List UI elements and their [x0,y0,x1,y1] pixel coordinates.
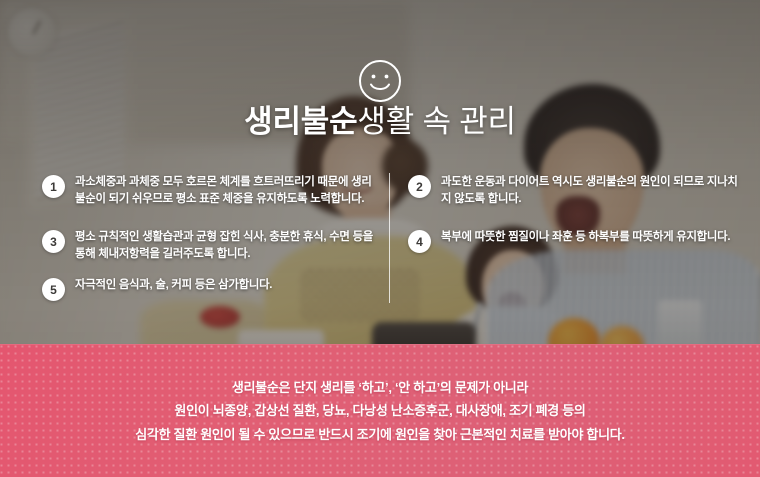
tip-number-badge: 4 [408,230,431,253]
list-item: 4 복부에 따뜻한 찜질이나 좌훈 등 하복부를 따뜻하게 유지합니다. [408,229,742,253]
tip-text: 자극적인 음식과, 술, 커피 등은 삼가합니다. [75,277,272,294]
footer-line-2: 원인이 뇌종양, 갑상선 질환, 당뇨, 다낭성 난소증후군, 대사장애, 조기… [0,399,760,422]
tip-text: 과소체중과 과체중 모두 호르몬 체계를 흐트러뜨리기 때문에 생리불순이 되기… [75,174,380,209]
tip-number-badge: 2 [408,175,431,198]
list-item: 5 자극적인 음식과, 술, 커피 등은 삼가합니다. [42,277,380,301]
tip-text: 복부에 따뜻한 찜질이나 좌훈 등 하복부를 따뜻하게 유지합니다. [441,229,730,246]
infographic-root: 생리불순생활 속 관리 1 과소체중과 과체중 모두 호르몬 체계를 흐트러뜨리… [0,0,760,477]
tip-text: 과도한 운동과 다이어트 역시도 생리불순의 원인이 되므로 지나치지 않도록 … [441,174,742,209]
footer-banner: 생리불순은 단지 생리를 ‘하고’, ‘안 하고’의 문제가 아니라 원인이 뇌… [0,344,760,477]
tip-number-badge: 5 [42,278,65,301]
footer-banner-text: 생리불순은 단지 생리를 ‘하고’, ‘안 하고’의 문제가 아니라 원인이 뇌… [0,376,760,446]
footer-line-3: 심각한 질환 원인이 될 수 있으므로 반드시 조기에 원인을 찾아 근본적인 … [0,423,760,446]
list-item: 1 과소체중과 과체중 모두 호르몬 체계를 흐트러뜨리기 때문에 생리불순이 … [42,174,380,209]
list-item: 3 평소 규칙적인 생활습관과 균형 잡힌 식사, 충분한 휴식, 수면 등을 … [42,229,380,264]
tip-number-badge: 3 [42,230,65,253]
content-layer: 생리불순생활 속 관리 1 과소체중과 과체중 모두 호르몬 체계를 흐트러뜨리… [0,0,760,477]
footer-line-1: 생리불순은 단지 생리를 ‘하고’, ‘안 하고’의 문제가 아니라 [0,376,760,399]
tips-list: 1 과소체중과 과체중 모두 호르몬 체계를 흐트러뜨리기 때문에 생리불순이 … [0,0,760,330]
tip-text: 평소 규칙적인 생활습관과 균형 잡힌 식사, 충분한 휴식, 수면 등을 통해… [75,229,380,264]
tip-number-badge: 1 [42,175,65,198]
list-item: 2 과도한 운동과 다이어트 역시도 생리불순의 원인이 되므로 지나치지 않도… [408,174,742,209]
